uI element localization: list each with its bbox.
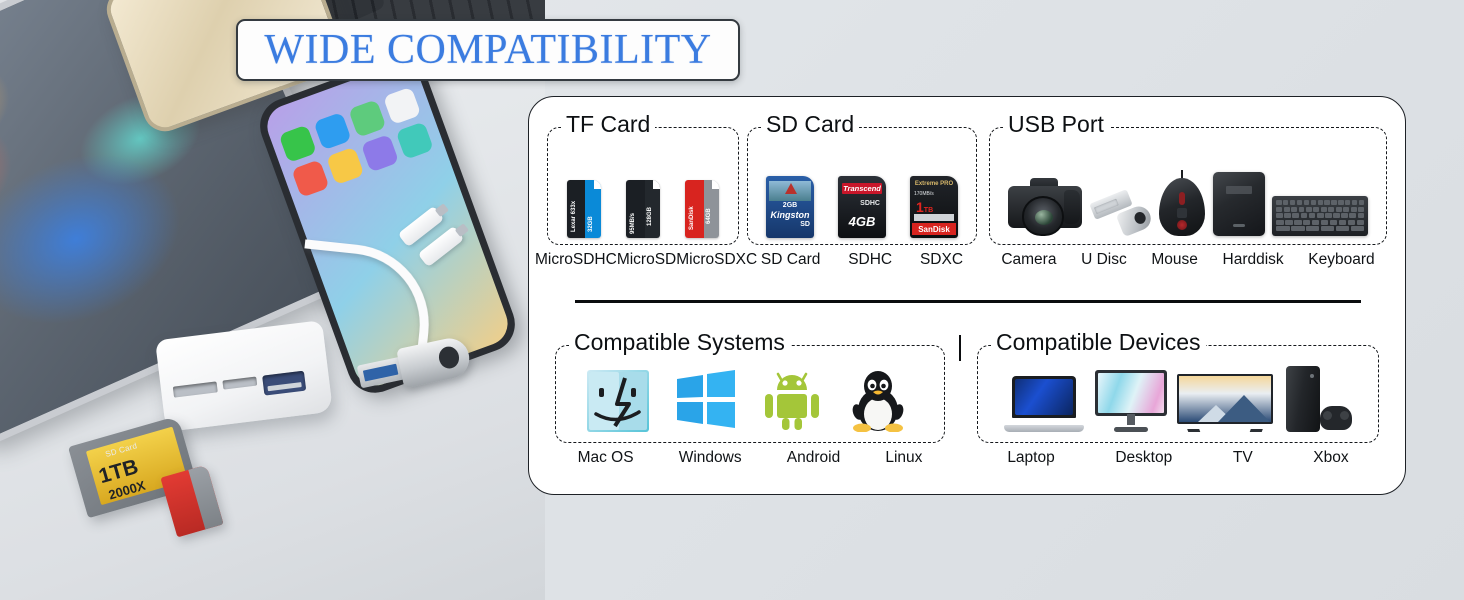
caption-linux: Linux [885, 449, 922, 467]
television-icon [1177, 374, 1273, 432]
sd-slot [173, 381, 218, 397]
tf-card-items: Lexar 633x 32GB 95MB/s 128GB SanDisk 64G… [548, 128, 738, 244]
caption-u-disc: U Disc [1081, 251, 1127, 269]
section-sd-card: SD Card 2GB Kingston SD Transcend SDHC 4… [747, 127, 977, 245]
dslr-camera-icon [1008, 178, 1082, 236]
page-title: WIDE COMPATIBILITY [236, 19, 740, 81]
tf-card-captions: MicroSDHC MicroSD MicroSDXC [535, 251, 753, 269]
caption-desktop: Desktop [1115, 449, 1172, 467]
caption-xbox: Xbox [1313, 449, 1348, 467]
product-photo: SD Card 1TB 2000X [0, 0, 545, 600]
vertical-divider [959, 335, 961, 361]
caption-laptop: Laptop [1007, 449, 1054, 467]
sdhc-card-icon: Transcend SDHC 4GB [838, 176, 886, 238]
compatible-systems-items [556, 346, 944, 442]
external-harddisk-icon [1213, 172, 1265, 236]
caption-microsd: MicroSD [617, 251, 676, 269]
keyboard-icon [1272, 196, 1368, 236]
caption-android: Android [787, 449, 840, 467]
usb-port-captions: Camera U Disc Mouse Harddisk Keyboard [989, 251, 1387, 269]
usb-slot [262, 371, 306, 396]
caption-microsdxc: MicroSDXC [676, 251, 757, 269]
compatible-devices-items [978, 346, 1378, 442]
android-robot-icon [763, 370, 825, 432]
caption-harddisk: Harddisk [1223, 251, 1284, 269]
caption-tv: TV [1233, 449, 1253, 467]
product-infographic: SD Card 1TB 2000X WIDE COMPATIBILITY TF … [0, 0, 1464, 600]
xbox-console-icon [1282, 366, 1352, 432]
sd-card-captions: SD Card SDHC SDXC [747, 251, 977, 269]
compatibility-panel: TF Card Lexar 633x 32GB 95MB/s 128GB [528, 96, 1406, 495]
section-usb-port: USB Port [989, 127, 1387, 245]
caption-sd-card: SD Card [761, 251, 820, 269]
tf-slot [222, 377, 257, 390]
macos-finder-icon [587, 370, 649, 432]
caption-mac-os: Mac OS [578, 449, 634, 467]
windows-logo-icon [675, 370, 737, 432]
gaming-mouse-icon [1159, 178, 1205, 236]
desktop-monitor-icon [1093, 370, 1169, 432]
compatible-systems-captions: Mac OS Windows Android Linux [555, 449, 945, 467]
usb-port-items [990, 128, 1386, 244]
caption-keyboard: Keyboard [1308, 251, 1374, 269]
compatible-devices-captions: Laptop Desktop TV Xbox [977, 449, 1379, 467]
section-compatible-devices: Compatible Devices [977, 345, 1379, 443]
caption-sdxc: SDXC [920, 251, 963, 269]
sdxc-card-icon: Extreme PRO 170MB/s 1TB SanDisk [910, 176, 958, 238]
iphone-app-icons [279, 87, 434, 198]
caption-microsdhc: MicroSDHC [535, 251, 617, 269]
caption-sdhc: SDHC [848, 251, 892, 269]
section-tf-card: TF Card Lexar 633x 32GB 95MB/s 128GB [547, 127, 739, 245]
microsd-card-icon: 95MB/s 128GB [626, 180, 660, 238]
microsdhc-card-icon: Lexar 633x 32GB [567, 180, 601, 238]
microsdxc-card-icon: SanDisk 64GB [685, 180, 719, 238]
linux-tux-penguin-icon [851, 370, 913, 432]
sd-card-items: 2GB Kingston SD Transcend SDHC 4GB Extre… [748, 128, 976, 244]
usb-flash-drive-icon [1089, 186, 1151, 236]
laptop-icon [1004, 376, 1084, 432]
caption-camera: Camera [1001, 251, 1056, 269]
section-compatible-systems: Compatible Systems [555, 345, 945, 443]
section-divider [575, 300, 1361, 303]
caption-windows: Windows [679, 449, 742, 467]
caption-mouse: Mouse [1151, 251, 1198, 269]
sd-card-icon: 2GB Kingston SD [766, 176, 814, 238]
page-title-text: WIDE COMPATIBILITY [264, 26, 711, 74]
